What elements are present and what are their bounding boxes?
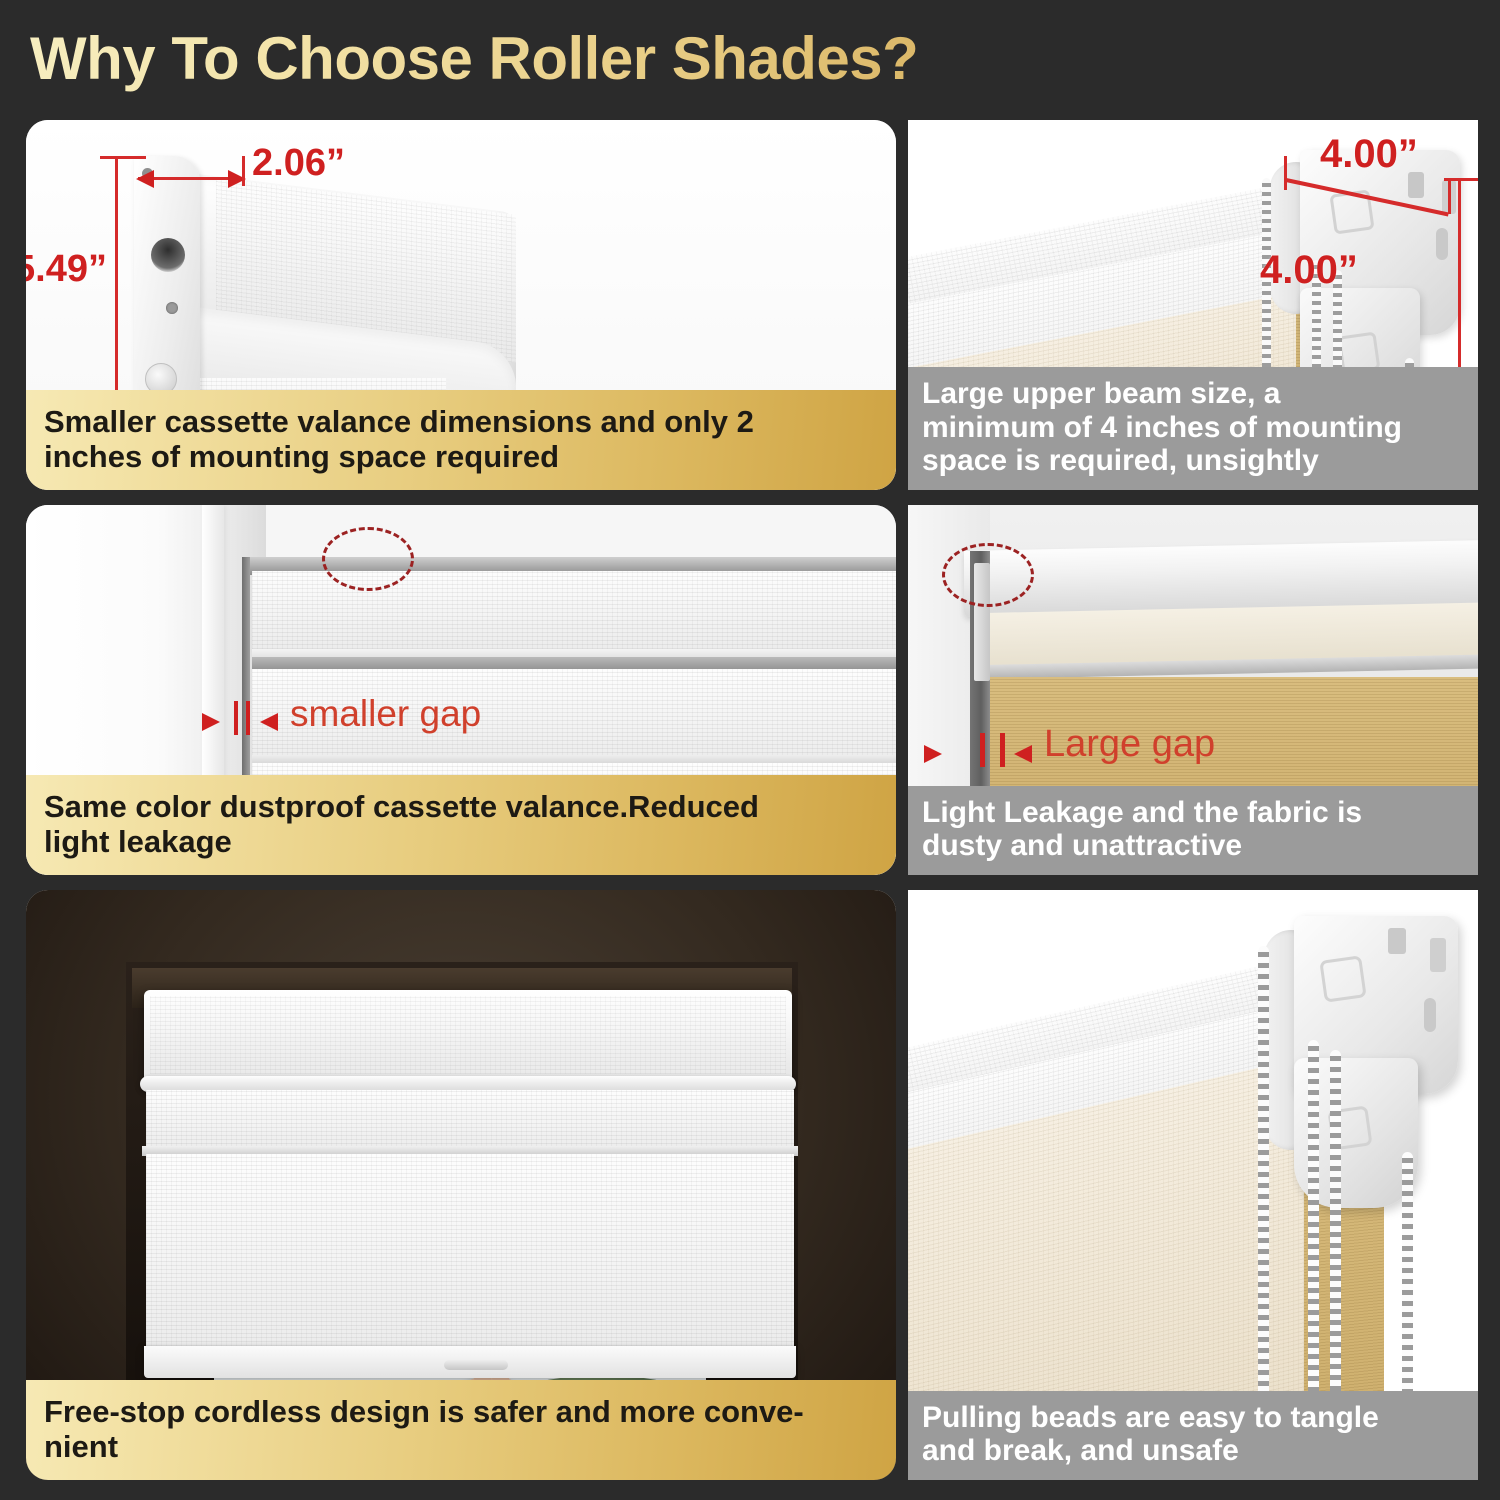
beam-width-tick-right <box>1448 180 1451 214</box>
beam-width-label: 4.00” <box>1320 132 1418 177</box>
gap-marker-bar <box>1000 733 1005 767</box>
bracket-logo-icon <box>1319 955 1366 1002</box>
panel-top-right: 4.00” 4.00” Large upper beam size, a min… <box>908 120 1478 490</box>
caption-line: Smaller cassette valance dimensions and … <box>44 404 878 439</box>
width-dimension-tick <box>242 156 245 186</box>
caption-line: nient <box>44 1429 878 1464</box>
gap-arrow-left <box>202 713 220 731</box>
detail-highlight-ring <box>322 527 414 591</box>
caption-line: Large upper beam size, a <box>922 377 1464 411</box>
large-gap-label: Large gap <box>1044 723 1215 766</box>
gap-marker-bar <box>234 701 238 735</box>
gap-marker-bar <box>246 701 250 735</box>
bottom-rail-handle[interactable] <box>444 1360 508 1370</box>
caption-middle-right: Light Leakage and the fabric is dusty an… <box>908 786 1478 875</box>
caption-line: Light Leakage and the fabric is <box>922 796 1464 830</box>
caption-line: inches of mounting space required <box>44 439 878 474</box>
panel-bottom-left: Free-stop cordless design is safer and m… <box>26 890 896 1480</box>
caption-line: minimum of 4 inches of mounting <box>922 411 1464 445</box>
beam-height-tick-top <box>1444 178 1478 181</box>
page-title: Why To Choose Roller Shades? <box>30 16 1230 102</box>
width-dimension-arrow-left <box>136 170 154 188</box>
caption-middle-left: Same color dustproof cassette valance.Re… <box>26 775 896 875</box>
caption-line: space is required, unsightly <box>922 444 1464 478</box>
caption-top-right: Large upper beam size, a minimum of 4 in… <box>908 367 1478 490</box>
caption-line: Free-stop cordless design is safer and m… <box>44 1394 878 1429</box>
panel-middle-right: Large gap Light Leakage and the fabric i… <box>908 505 1478 875</box>
detail-highlight-ring <box>942 543 1034 607</box>
width-dimension-label: 2.06” <box>252 142 345 185</box>
gap-arrow-left <box>924 745 942 763</box>
bracket-slot-icon <box>151 238 185 272</box>
height-dimension-label: 5.49” <box>26 248 107 291</box>
height-dimension-line <box>115 156 118 420</box>
caption-line: Pulling beads are easy to tangle <box>922 1401 1464 1435</box>
caption-line: dusty and unattractive <box>922 829 1464 863</box>
height-dimension-tick-top <box>100 156 146 159</box>
gap-arrow-right <box>1014 745 1032 763</box>
caption-top-left: Smaller cassette valance dimensions and … <box>26 390 896 490</box>
panel-middle-left: smaller gap Same color dustproof cassett… <box>26 505 896 875</box>
gap-arrow-right <box>260 713 278 731</box>
gap-marker-bar <box>980 733 985 767</box>
bracket-screw-icon <box>166 302 178 314</box>
beam-width-tick-left <box>1284 156 1287 190</box>
smaller-gap-label: smaller gap <box>290 693 481 735</box>
caption-line: Same color dustproof cassette valance.Re… <box>44 789 878 824</box>
caption-line: light leakage <box>44 824 878 859</box>
caption-bottom-left: Free-stop cordless design is safer and m… <box>26 1380 896 1480</box>
panel-bottom-right: Pulling beads are easy to tangle and bre… <box>908 890 1478 1480</box>
panel-top-left: 2.06” 5.49” Smaller cassette valance dim… <box>26 120 896 490</box>
caption-line: and break, and unsafe <box>922 1434 1464 1468</box>
caption-bottom-right: Pulling beads are easy to tangle and bre… <box>908 1391 1478 1480</box>
beam-height-label: 4.00” <box>1260 248 1358 293</box>
beam-height-dimension-line <box>1458 178 1461 378</box>
